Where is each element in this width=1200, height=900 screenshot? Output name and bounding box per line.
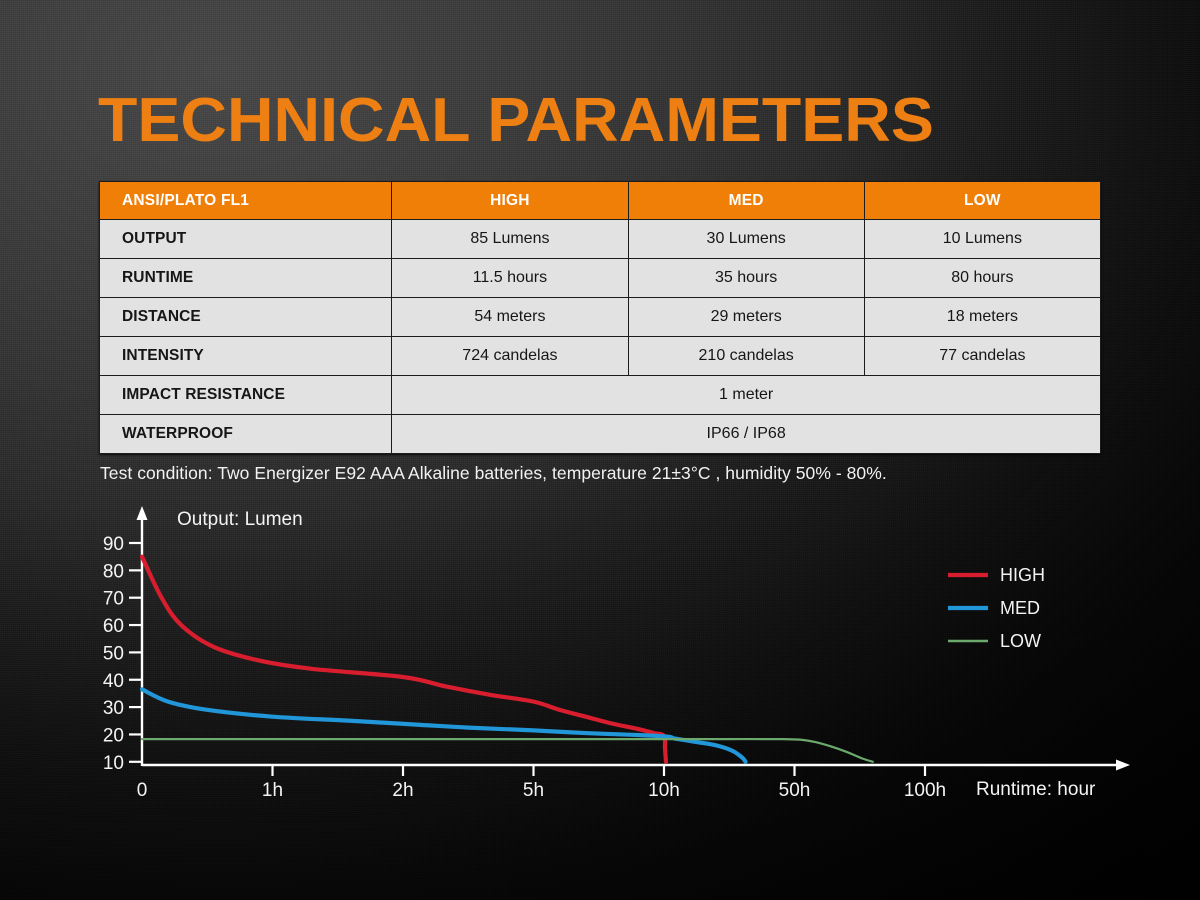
legend-label-med: MED <box>1000 598 1040 618</box>
chart-y-tick-label: 70 <box>103 589 124 610</box>
legend-label-low: LOW <box>1000 631 1041 651</box>
chart-y-tick-label: 30 <box>103 698 124 719</box>
chart-y-axis-arrow <box>137 506 148 520</box>
chart-series-high <box>142 557 666 762</box>
chart-y-tick-label: 80 <box>103 561 124 582</box>
chart-series-group <box>142 557 873 762</box>
chart-x-tick-label: 100h <box>904 780 946 801</box>
chart-y-tick-label: 20 <box>103 725 124 746</box>
chart-y-ticks <box>129 543 141 762</box>
chart-x-axis-title: Runtime: hour <box>976 779 1096 800</box>
chart-y-axis-title: Output: Lumen <box>177 509 303 530</box>
chart-y-tick-label: 60 <box>103 616 124 637</box>
chart-x-tick-label: 10h <box>648 780 680 801</box>
chart-x-tick-label: 5h <box>523 780 544 801</box>
chart-y-tick-label: 40 <box>103 671 124 692</box>
chart-series-low <box>142 739 873 762</box>
chart-x-tick-labels: 01h2h5h10h50h100h <box>137 780 946 801</box>
chart-x-tick-label: 50h <box>779 780 811 801</box>
chart-y-tick-label: 90 <box>103 534 124 555</box>
chart-series-med <box>142 689 746 761</box>
chart-legend: HIGHMEDLOW <box>948 565 1045 651</box>
chart-y-tick-labels: 102030405060708090 <box>103 534 124 774</box>
chart-x-tick-label: 1h <box>262 780 283 801</box>
slide-canvas: TECHNICAL PARAMETERS ANSI/PLATO FL1 HIGH… <box>0 0 1200 900</box>
chart-x-tick-label: 0 <box>137 780 148 801</box>
chart-x-axis-arrow <box>1116 760 1130 771</box>
chart-y-tick-label: 50 <box>103 643 124 664</box>
chart-x-ticks <box>273 765 926 776</box>
runtime-chart: 102030405060708090 01h2h5h10h50h100h Out… <box>0 0 1200 900</box>
legend-label-high: HIGH <box>1000 565 1045 585</box>
chart-y-tick-label: 10 <box>103 753 124 774</box>
chart-x-tick-label: 2h <box>392 780 413 801</box>
